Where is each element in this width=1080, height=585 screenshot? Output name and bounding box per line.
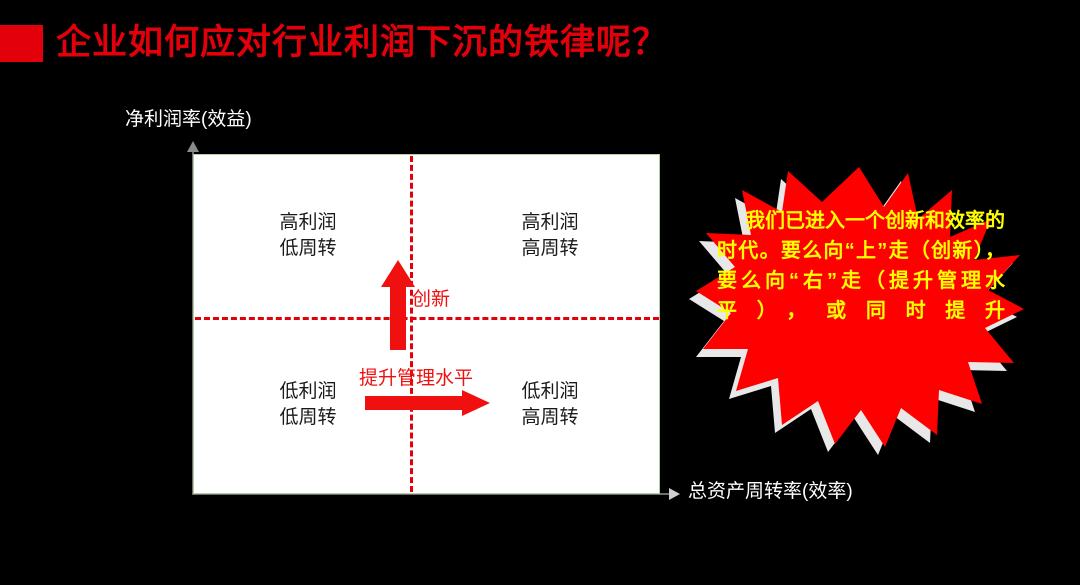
quadrant-label-line1: 高利润 xyxy=(490,210,610,236)
quadrant-label-line1: 低利润 xyxy=(248,379,368,405)
arrow-up-head xyxy=(381,260,415,287)
y-axis-label: 净利润率(效益) xyxy=(125,104,252,131)
arrow-up-shaft xyxy=(390,285,406,350)
quadrant-label-top-right: 高利润 高周转 xyxy=(490,210,610,262)
quadrant-label-line2: 低周转 xyxy=(248,405,368,431)
quadrant-divider-horizontal xyxy=(195,317,659,320)
y-axis-arrowhead-icon xyxy=(187,141,199,152)
quadrant-label-line1: 低利润 xyxy=(490,379,610,405)
quadrant-label-bottom-left: 低利润 低周转 xyxy=(248,379,368,431)
quadrant-label-top-left: 高利润 低周转 xyxy=(248,210,368,262)
quadrant-label-line2: 高周转 xyxy=(490,236,610,262)
arrow-up-icon xyxy=(381,260,415,350)
starburst-text: 我们已进入一个创新和效率的时代。要么向“上”走（创新），要么向“右”走（提升管理… xyxy=(717,206,1005,326)
page-title: 企业如何应对行业利润下沉的铁律呢？ xyxy=(56,18,668,68)
quadrant-label-bottom-right: 低利润 高周转 xyxy=(490,379,610,431)
quadrant-label-line2: 高周转 xyxy=(490,405,610,431)
arrow-right-head xyxy=(462,390,490,416)
quadrant-label-line1: 高利润 xyxy=(248,210,368,236)
quadrant-label-line2: 低周转 xyxy=(248,236,368,262)
x-axis-label: 总资产周转率(效率) xyxy=(688,476,853,503)
arrow-right-label: 提升管理水平 xyxy=(359,363,473,390)
slide-title-row: 企业如何应对行业利润下沉的铁律呢？ xyxy=(0,18,1080,70)
slide-canvas: 企业如何应对行业利润下沉的铁律呢？ 净利润率(效益) 总资产周转率(效率) 高利… xyxy=(0,0,1080,585)
arrow-up-label: 创新 xyxy=(412,284,450,311)
starburst-callout: 我们已进入一个创新和效率的时代。要么向“上”走（创新），要么向“右”走（提升管理… xyxy=(694,163,1024,448)
arrow-right-shaft xyxy=(365,396,463,410)
x-axis-arrowhead-icon xyxy=(669,488,680,500)
arrow-right-icon xyxy=(365,390,491,416)
quadrant-plot-area xyxy=(193,154,660,494)
title-bullet-square xyxy=(0,25,43,62)
